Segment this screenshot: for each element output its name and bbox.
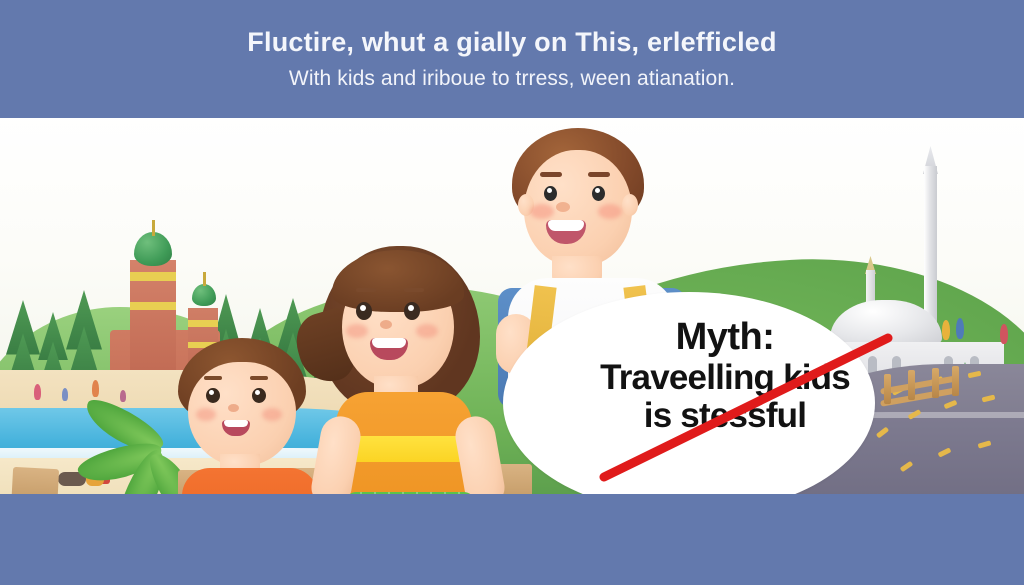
poster-canvas: Myth: Traveelling kids is stessful Fluct… [0,0,1024,585]
adult-eye [592,186,605,201]
speech-bubble-text: Myth: Traveelling kids is stessful [560,318,890,488]
girl-eye [404,302,420,320]
adult-teeth [548,220,584,231]
beachgoer [92,380,99,397]
girl-eyebrow [404,288,424,292]
pedestrian [956,318,964,339]
adult-eyebrow [588,172,610,177]
pedestrian [942,320,950,340]
church-spire [203,272,206,286]
speech-bubble-line1: Myth: [560,318,890,358]
beachgoer [62,388,68,401]
boy-eyebrow [204,376,222,380]
boy-teeth [224,420,248,427]
boy-eye [206,388,220,403]
girl-character [312,240,532,500]
boy-nose [228,404,239,412]
speech-bubble-line2: Traveelling kids [560,360,890,396]
boy-cheek [196,408,216,421]
boy-eyebrow [250,376,268,380]
adult-nose [556,202,570,212]
adult-eye [544,186,557,201]
pedestrian [1000,324,1008,344]
fence-post [908,370,915,400]
girl-nose [380,320,392,329]
beachgoer [120,390,126,402]
top-banner: Fluctire, whut a gially on This, erleffi… [0,0,1024,118]
banner-subheadline: With kids and iriboue to trress, ween at… [289,67,735,90]
adult-eyebrow [540,172,562,177]
fence-post [952,366,959,396]
girl-cheek [346,324,368,338]
adult-ear [622,194,638,216]
church-gold-band [188,320,218,327]
girl-cheek [416,324,438,338]
church-dome-large [134,232,172,266]
girl-eye [356,302,372,320]
boy-eye [252,388,266,403]
beachgoer [34,384,41,400]
church-gold-band [130,272,176,281]
boy-cheek [262,408,282,421]
adult-cheek [530,204,554,219]
church-dome-small [192,284,216,306]
church-gold-band [130,302,176,310]
church-spire [152,220,155,236]
girl-teeth [372,338,406,348]
girl-eyebrow [356,288,376,292]
bottom-banner [0,494,1024,585]
banner-headline: Fluctire, whut a gially on This, erleffi… [247,28,776,58]
fence-post [932,368,939,398]
speech-bubble-line3: is stessful [560,398,890,434]
adult-cheek [598,204,622,219]
